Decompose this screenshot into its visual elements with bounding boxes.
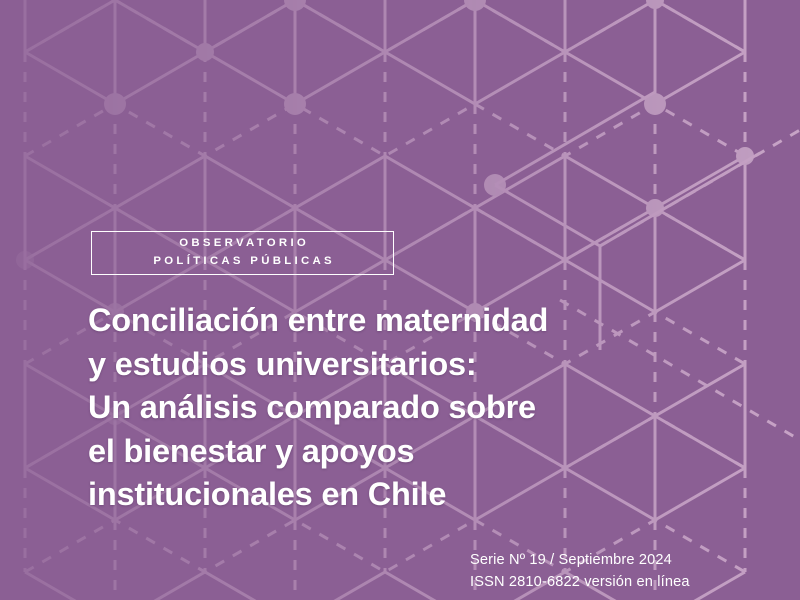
title-line-1: Conciliación entre maternidad — [88, 299, 728, 343]
brand-line-observatorio: OBSERVATORIO — [176, 235, 309, 253]
title-line-2: y estudios universitarios: — [88, 343, 728, 387]
title-line-5: institucionales en Chile — [88, 473, 728, 517]
title-line-4: el bienestar y apoyos — [88, 430, 728, 474]
page-title: Conciliación entre maternidad y estudios… — [88, 299, 728, 517]
brand-line-politicas-publicas: POLÍTICAS PÚBLICAS — [150, 253, 335, 271]
series-issue-label: Serie Nº 19 / Septiembre 2024 — [470, 550, 770, 572]
brand-box: OBSERVATORIO POLÍTICAS PÚBLICAS — [91, 231, 394, 275]
cover-footer: Serie Nº 19 / Septiembre 2024 ISSN 2810-… — [470, 550, 770, 593]
issn-label: ISSN 2810-6822 versión en línea — [470, 572, 770, 594]
publication-cover: OBSERVATORIO POLÍTICAS PÚBLICAS Concilia… — [0, 0, 800, 600]
title-line-3: Un análisis comparado sobre — [88, 386, 728, 430]
